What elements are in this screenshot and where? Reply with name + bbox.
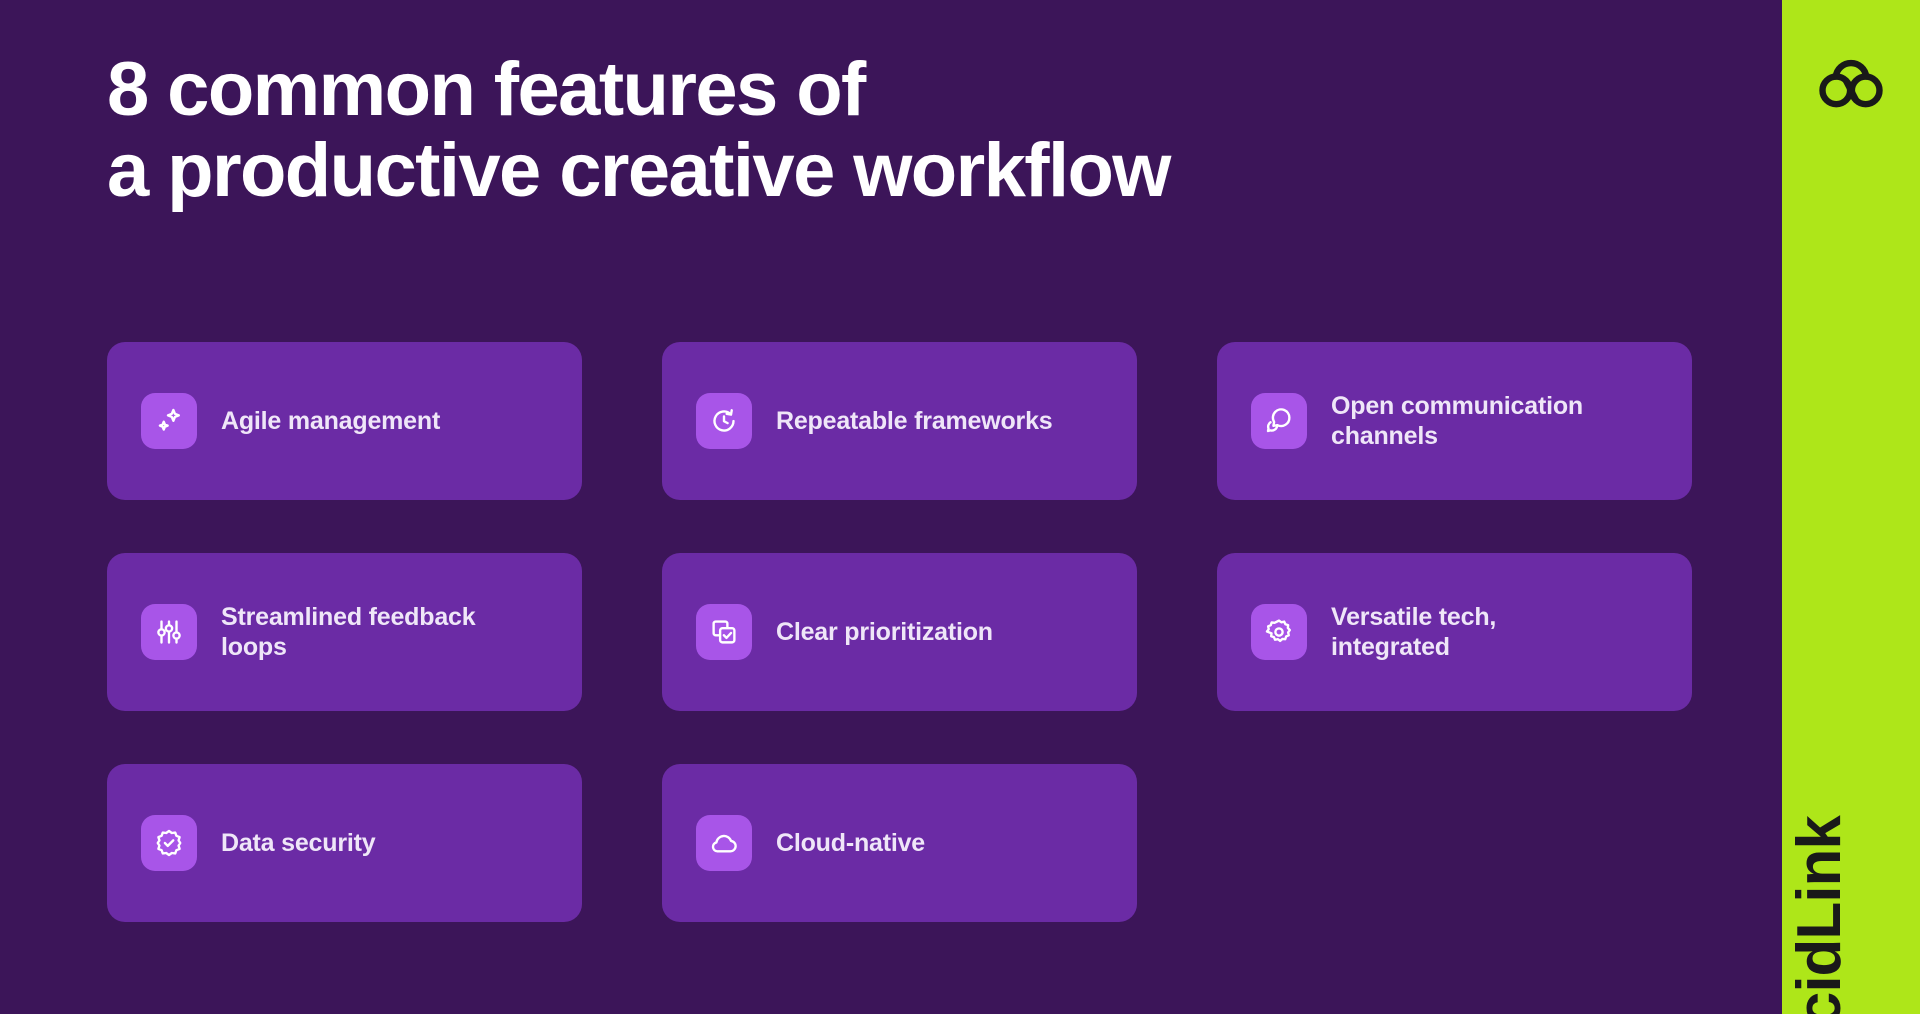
feature-card-label: Clear prioritization [776,617,993,648]
feature-card[interactable]: Data security [107,764,582,922]
history-rotate-clock-icon [696,393,752,449]
feature-card-label: Versatile tech, integrated [1331,602,1496,663]
feature-card-label: Repeatable frameworks [776,406,1052,437]
cloud-icon [696,815,752,871]
feature-card-label: Cloud-native [776,828,925,859]
feature-card[interactable]: Agile management [107,342,582,500]
brand-sidebar: LucidLink [1782,0,1920,1014]
chat-bubbles-icon [1251,393,1307,449]
feature-card-label: Open communication channels [1331,391,1583,452]
sparkles-icon [141,393,197,449]
page-title: 8 common features of a productive creati… [107,50,1707,211]
feature-card[interactable]: Streamlined feedback loops [107,553,582,711]
feature-card[interactable]: Cloud-native [662,764,1137,922]
feature-card-label: Streamlined feedback loops [221,602,475,663]
feature-card-label: Data security [221,828,375,859]
brand-wordmark: LucidLink [1789,816,1851,1014]
sliders-equalizer-icon [141,604,197,660]
slide-canvas: 8 common features of a productive creati… [0,0,1920,1014]
feature-card-label: Agile management [221,406,440,437]
feature-card[interactable]: Clear prioritization [662,553,1137,711]
feature-card-grid: Agile management Repeatable frameworks [107,342,1697,922]
gear-icon [1251,604,1307,660]
brand-wordmark-area: LucidLink [1782,354,1920,1014]
feature-card[interactable]: Open communication channels [1217,342,1692,500]
feature-card[interactable]: Repeatable frameworks [662,342,1137,500]
lucidlink-cloud-infinity-logo [1815,52,1887,112]
copy-check-icon [696,604,752,660]
feature-card[interactable]: Versatile tech, integrated [1217,553,1692,711]
verified-badge-check-icon [141,815,197,871]
